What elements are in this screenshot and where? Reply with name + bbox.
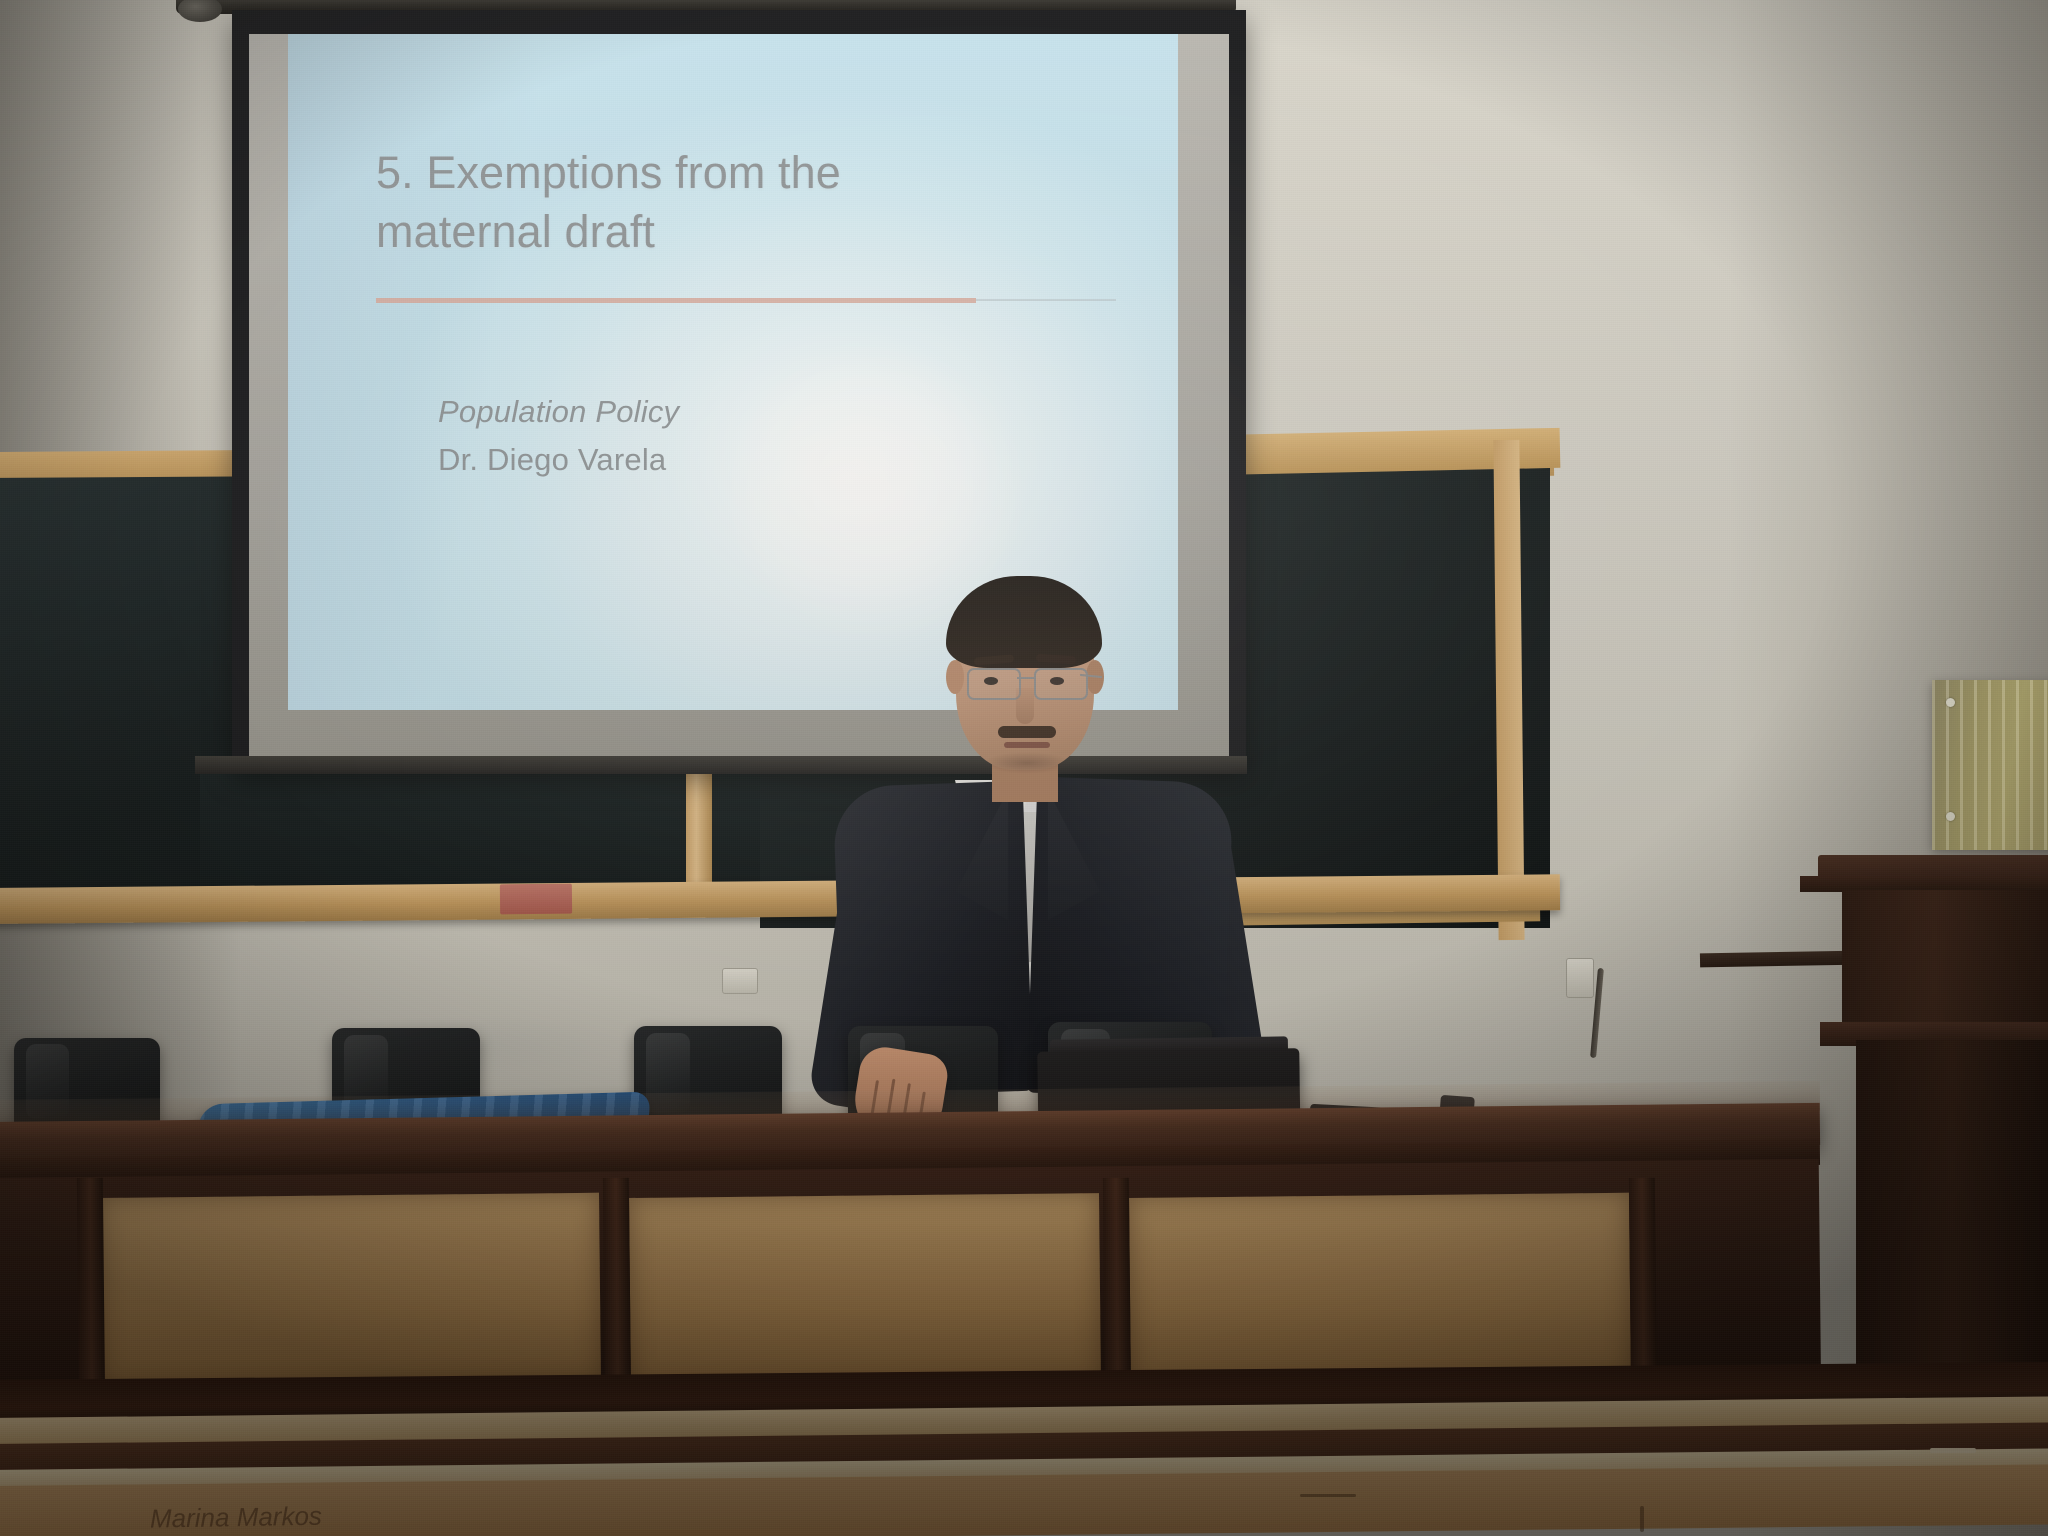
presenter-ear-left: [946, 660, 964, 694]
presenter-chin-shadow: [982, 752, 1072, 774]
presenter-nose: [1016, 688, 1034, 724]
desk-panel-1: [99, 1193, 601, 1388]
presenter-hair: [946, 576, 1102, 668]
plaque-screw: [1946, 812, 1955, 821]
bench-scratch: [1930, 1448, 1976, 1453]
power-outlet-icon: [722, 968, 758, 994]
bench-scratch: [1640, 1506, 1644, 1532]
bench-graffiti: Marina Markos: [150, 1496, 571, 1536]
blackboard-frame-right: [1493, 440, 1524, 940]
desk-panel-2: [629, 1193, 1101, 1388]
desk-divider-1: [77, 1178, 105, 1406]
presenter-mouth: [1004, 742, 1050, 748]
eyeglasses-icon: [967, 668, 1021, 700]
power-outlet-icon: [1566, 958, 1594, 998]
wall-plaque: [1932, 680, 2048, 850]
eyeglasses-icon: [1034, 668, 1088, 700]
plaque-screw: [1946, 698, 1955, 707]
presenter-mustache: [998, 726, 1056, 738]
desk-panel-3: [1129, 1193, 1631, 1388]
lectern-side-bar: [1700, 951, 1860, 968]
bench-scratch: [1300, 1494, 1356, 1497]
lecture-hall-photo: 5. Exemptions from the maternal draft Po…: [0, 0, 2048, 1536]
lectern-base: [1856, 1040, 2048, 1380]
eyeglasses-bridge: [1017, 677, 1034, 679]
lectern-body: [1842, 890, 2048, 1030]
chalk-eraser-icon: [500, 884, 572, 915]
desk-divider-2: [603, 1178, 631, 1406]
